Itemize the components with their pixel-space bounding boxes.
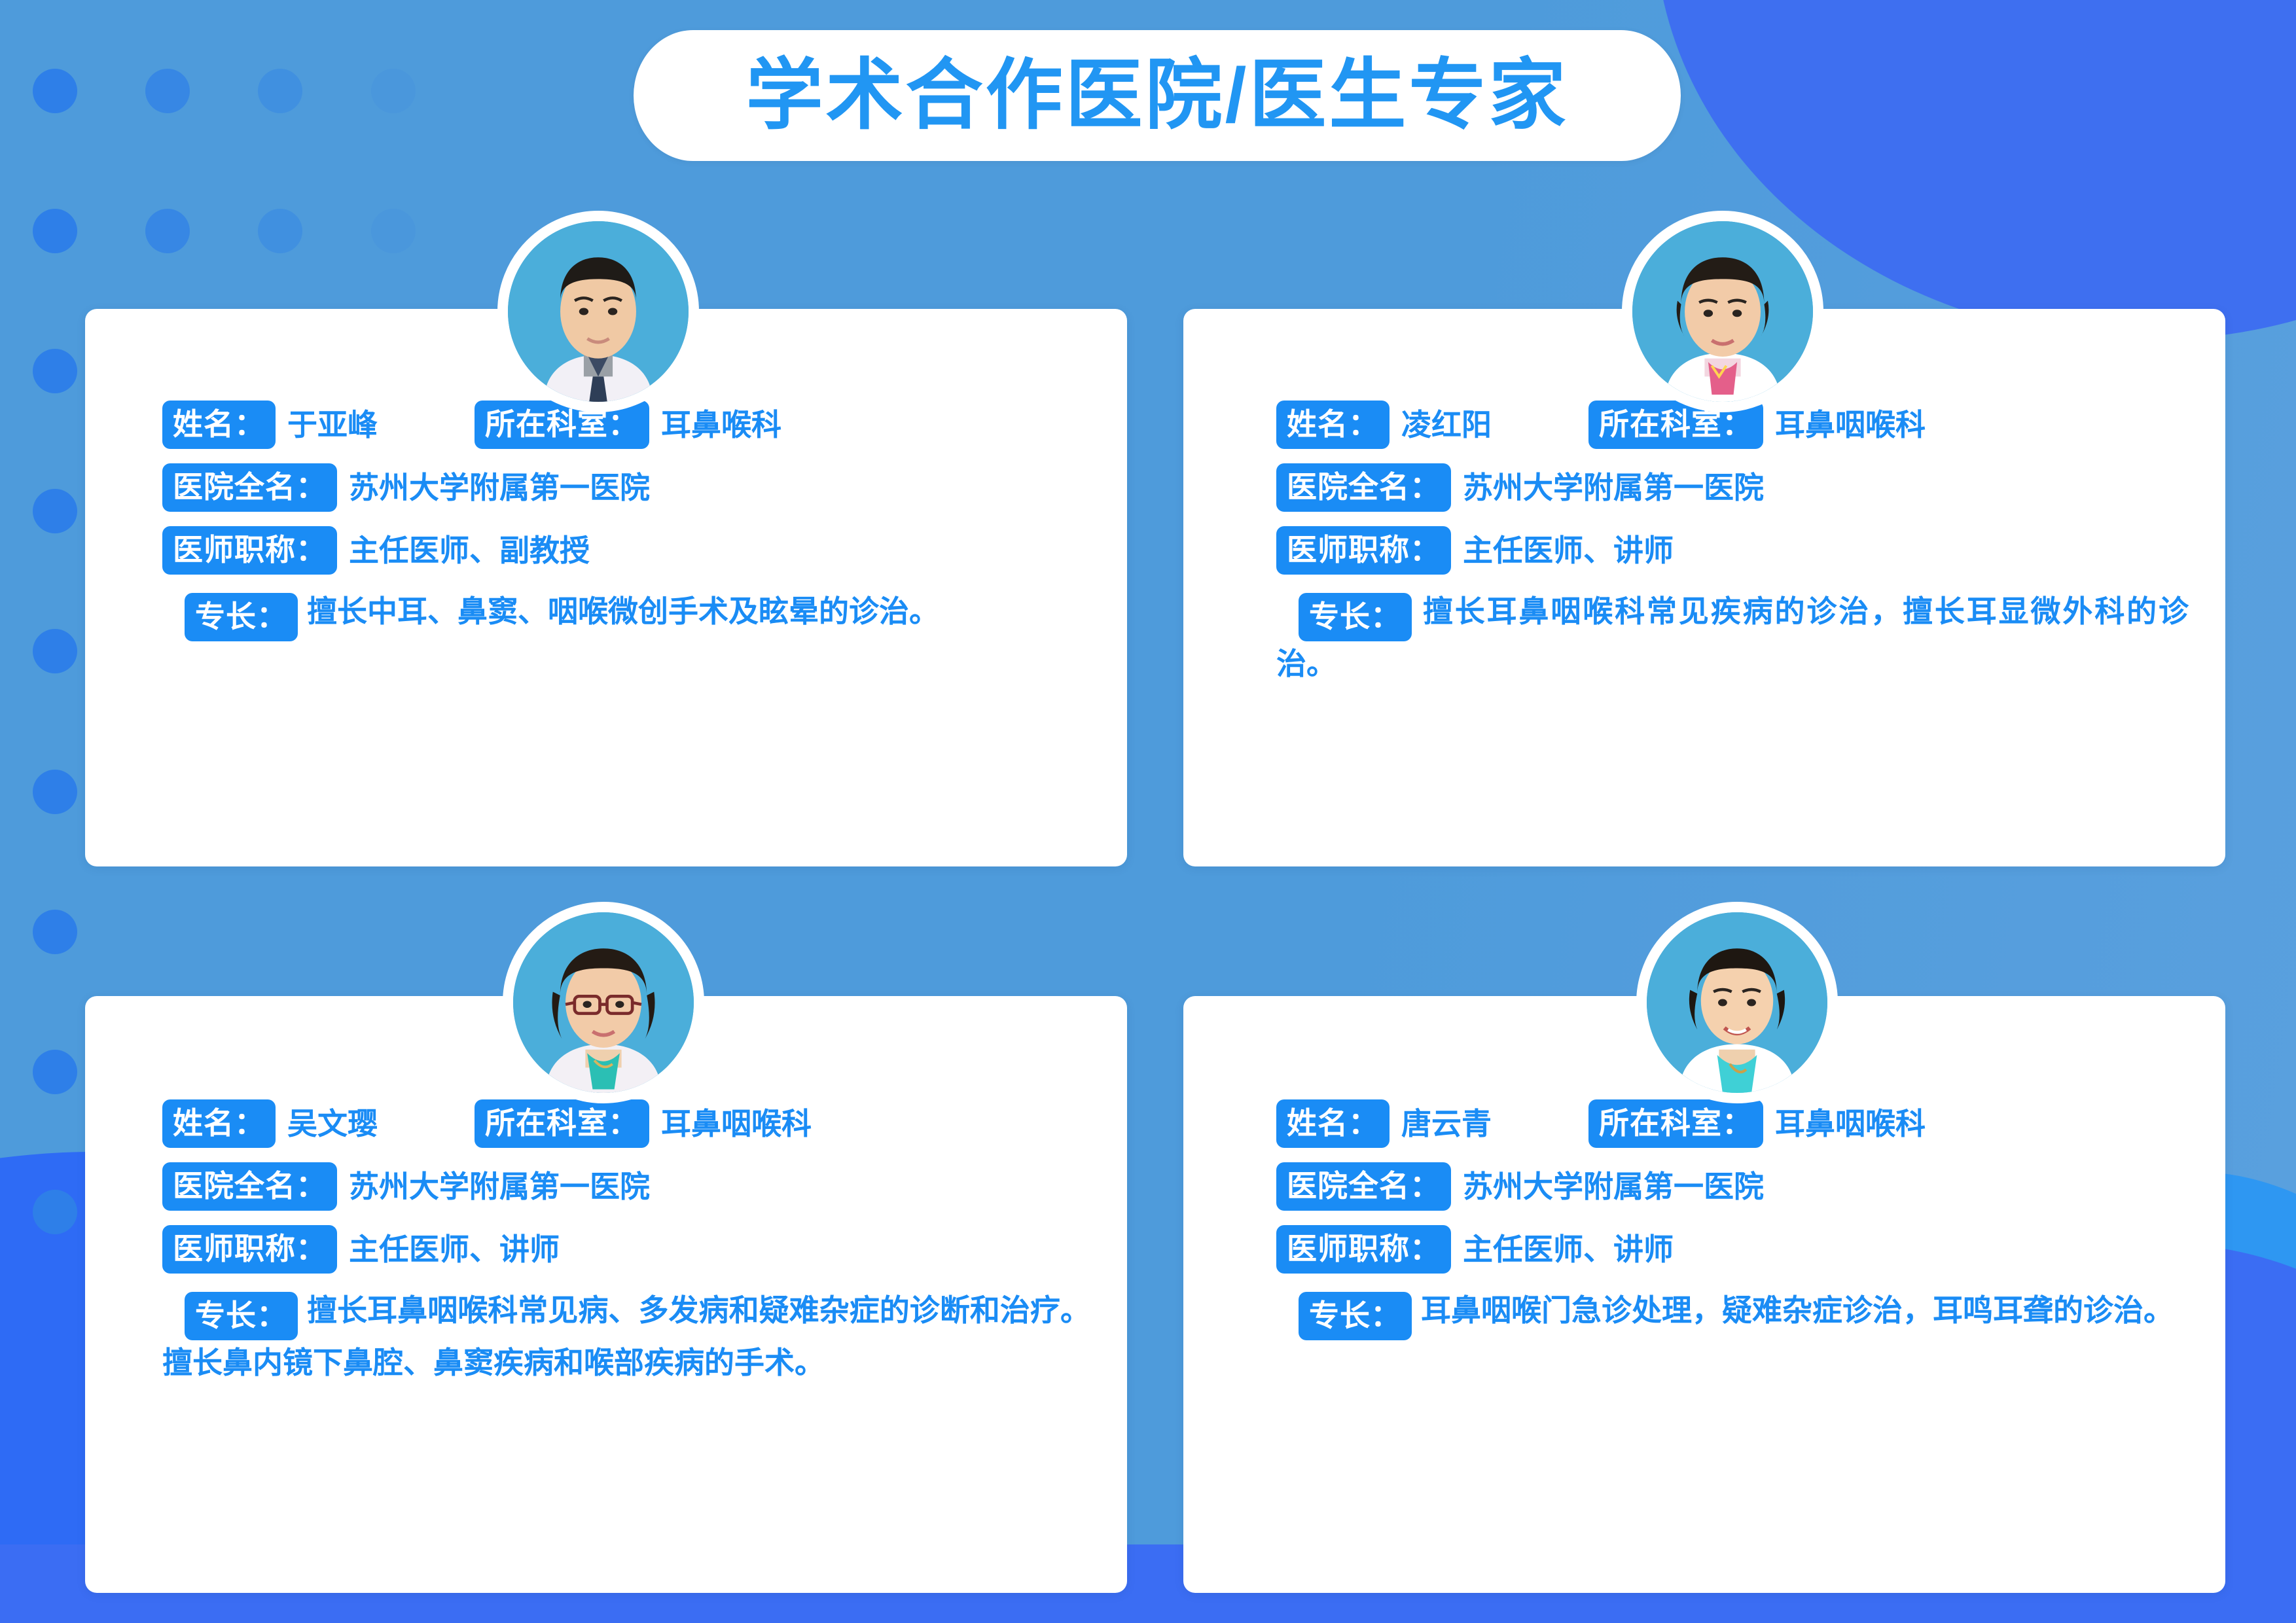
decor-dot xyxy=(33,69,77,113)
doctor-department-group: 所在科室： 耳鼻咽喉科 xyxy=(475,1099,812,1148)
doctor-hospital: 苏州大学附属第一医院 xyxy=(349,1169,650,1204)
doctor-specialty: 擅长中耳、鼻窦、咽喉微创手术及眩晕的诊治。 xyxy=(307,594,939,628)
decor-dot xyxy=(145,69,190,113)
doctor-specialty: 擅长耳鼻咽喉科常见病、多发病和疑难杂症的诊断和治疗。擅长鼻内镜下鼻腔、鼻窦疾病和… xyxy=(162,1293,1090,1380)
decor-dot xyxy=(258,69,302,113)
doctor-specialty: 耳鼻咽喉门急诊处理，疑难杂症诊治，耳鸣耳聋的诊治。 xyxy=(1421,1293,2174,1327)
doctor-hospital: 苏州大学附属第一医院 xyxy=(1463,1169,1764,1204)
doctor-name-group: 姓名： 唐云青 xyxy=(1276,1099,1492,1148)
decor-dot xyxy=(371,209,416,253)
department-label: 所在科室： xyxy=(475,1099,649,1148)
hospital-label: 医院全名： xyxy=(1276,1162,1451,1211)
doctor-name-row: 姓名： 吴文璎 所在科室： 耳鼻咽喉科 xyxy=(162,1099,1090,1148)
hospital-label: 医院全名： xyxy=(1276,463,1451,512)
doctor-title: 主任医师、讲师 xyxy=(1463,533,1674,568)
doctor-hospital-row: 医院全名： 苏州大学附属第一医院 xyxy=(162,463,1090,512)
doctor-card-body: 姓名： 吴文璎 所在科室： 耳鼻咽喉科 医院全名： 苏州大学附属第一医院 医师职… xyxy=(85,1099,1127,1385)
doctor-title: 主任医师、讲师 xyxy=(349,1232,560,1267)
doctor-name-row: 姓名： 唐云青 所在科室： 耳鼻咽喉科 xyxy=(1276,1099,2189,1148)
title-label: 医师职称： xyxy=(162,1225,337,1274)
doctor-hospital-row: 医院全名： 苏州大学附属第一医院 xyxy=(162,1162,1090,1211)
doctor-title: 主任医师、副教授 xyxy=(349,533,590,568)
doctor-specialty-row: 专长：擅长耳鼻咽喉科常见病、多发病和疑难杂症的诊断和治疗。擅长鼻内镜下鼻腔、鼻窦… xyxy=(162,1288,1090,1385)
doctor-specialty-block: 专长：擅长耳鼻咽喉科常见病、多发病和疑难杂症的诊断和治疗。擅长鼻内镜下鼻腔、鼻窦… xyxy=(162,1288,1090,1385)
doctor-title-row: 医师职称： 主任医师、副教授 xyxy=(162,526,1090,575)
doctor-department: 耳鼻喉科 xyxy=(661,407,781,442)
doctor-department-group: 所在科室： 耳鼻咽喉科 xyxy=(1588,1099,1926,1148)
doctor-name: 吴文璎 xyxy=(287,1106,378,1141)
decor-dot xyxy=(33,1190,77,1234)
doctor-name-group: 姓名： 吴文璎 xyxy=(162,1099,378,1148)
doctor-specialty-block: 专长：耳鼻咽喉门急诊处理，疑难杂症诊治，耳鸣耳聋的诊治。 xyxy=(1276,1288,2189,1340)
specialty-label: 专长： xyxy=(1299,593,1412,641)
decor-dot xyxy=(33,349,77,393)
specialty-label: 专长： xyxy=(185,593,298,641)
doctor-specialty-row: 专长：耳鼻咽喉门急诊处理，疑难杂症诊治，耳鸣耳聋的诊治。 xyxy=(1276,1288,2189,1340)
doctor-specialty-block: 专长：擅长耳鼻咽喉科常见疾病的诊治，擅长耳显微外科的诊治。 xyxy=(1276,589,2189,687)
decor-dot xyxy=(33,629,77,673)
poster-root: 学术合作医院/医生专家 姓名： 于亚峰 所在科室： 耳鼻喉科 医院全名： 苏州大… xyxy=(0,0,2296,1623)
doctor-department: 耳鼻咽喉科 xyxy=(1775,1106,1926,1141)
doctor-department-group: 所在科室： 耳鼻咽喉科 xyxy=(1588,401,1926,449)
doctor-name-group: 姓名： 凌红阳 xyxy=(1276,401,1492,449)
doctor-department: 耳鼻咽喉科 xyxy=(661,1106,812,1141)
decor-dot xyxy=(33,910,77,954)
name-label: 姓名： xyxy=(162,1099,276,1148)
doctor-female-scarf-avatar xyxy=(1636,902,1838,1103)
doctor-female-avatar xyxy=(1622,211,1823,412)
decor-dot xyxy=(33,1050,77,1094)
department-label: 所在科室： xyxy=(1588,1099,1763,1148)
doctor-department: 耳鼻咽喉科 xyxy=(1775,407,1926,442)
name-label: 姓名： xyxy=(1276,1099,1390,1148)
title-label: 医师职称： xyxy=(1276,1225,1451,1274)
decor-dot xyxy=(33,770,77,814)
doctor-title-row: 医师职称： 主任医师、讲师 xyxy=(1276,526,2189,575)
doctor-name: 唐云青 xyxy=(1401,1106,1492,1141)
title-label: 医师职称： xyxy=(162,526,337,575)
doctor-female-glasses-avatar xyxy=(503,902,704,1103)
doctor-hospital: 苏州大学附属第一医院 xyxy=(349,470,650,505)
name-label: 姓名： xyxy=(162,401,276,449)
doctor-hospital-row: 医院全名： 苏州大学附属第一医院 xyxy=(1276,463,2189,512)
doctor-hospital: 苏州大学附属第一医院 xyxy=(1463,470,1764,505)
doctor-name: 凌红阳 xyxy=(1401,407,1492,442)
decor-dot xyxy=(33,209,77,253)
decor-dot xyxy=(145,209,190,253)
doctor-card-body: 姓名： 于亚峰 所在科室： 耳鼻喉科 医院全名： 苏州大学附属第一医院 医师职称… xyxy=(85,401,1127,641)
doctor-male-avatar xyxy=(497,211,699,412)
decor-dot xyxy=(258,209,302,253)
decor-dot xyxy=(371,69,416,113)
page-title: 学术合作医院/医生专家 xyxy=(746,57,1569,134)
doctor-card-body: 姓名： 唐云青 所在科室： 耳鼻咽喉科 医院全名： 苏州大学附属第一医院 医师职… xyxy=(1183,1099,2225,1340)
doctor-specialty: 擅长耳鼻咽喉科常见疾病的诊治，擅长耳显微外科的诊治。 xyxy=(1276,594,2189,681)
hospital-label: 医院全名： xyxy=(162,1162,337,1211)
doctor-name-group: 姓名： 于亚峰 xyxy=(162,401,378,449)
decor-dot xyxy=(33,489,77,533)
name-label: 姓名： xyxy=(1276,401,1390,449)
page-title-pill: 学术合作医院/医生专家 xyxy=(634,30,1681,161)
doctor-name: 于亚峰 xyxy=(287,407,378,442)
doctor-card-body: 姓名： 凌红阳 所在科室： 耳鼻咽喉科 医院全名： 苏州大学附属第一医院 医师职… xyxy=(1183,401,2225,687)
doctor-title-row: 医师职称： 主任医师、讲师 xyxy=(1276,1225,2189,1274)
doctor-specialty-block: 专长：擅长中耳、鼻窦、咽喉微创手术及眩晕的诊治。 xyxy=(162,589,1090,641)
doctor-hospital-row: 医院全名： 苏州大学附属第一医院 xyxy=(1276,1162,2189,1211)
specialty-label: 专长： xyxy=(185,1292,298,1340)
hospital-label: 医院全名： xyxy=(162,463,337,512)
doctor-specialty-row: 专长：擅长耳鼻咽喉科常见疾病的诊治，擅长耳显微外科的诊治。 xyxy=(1276,589,2189,687)
specialty-label: 专长： xyxy=(1299,1292,1412,1340)
title-label: 医师职称： xyxy=(1276,526,1451,575)
doctor-title: 主任医师、讲师 xyxy=(1463,1232,1674,1267)
doctor-title-row: 医师职称： 主任医师、讲师 xyxy=(162,1225,1090,1274)
doctor-specialty-row: 专长：擅长中耳、鼻窦、咽喉微创手术及眩晕的诊治。 xyxy=(162,589,1090,641)
